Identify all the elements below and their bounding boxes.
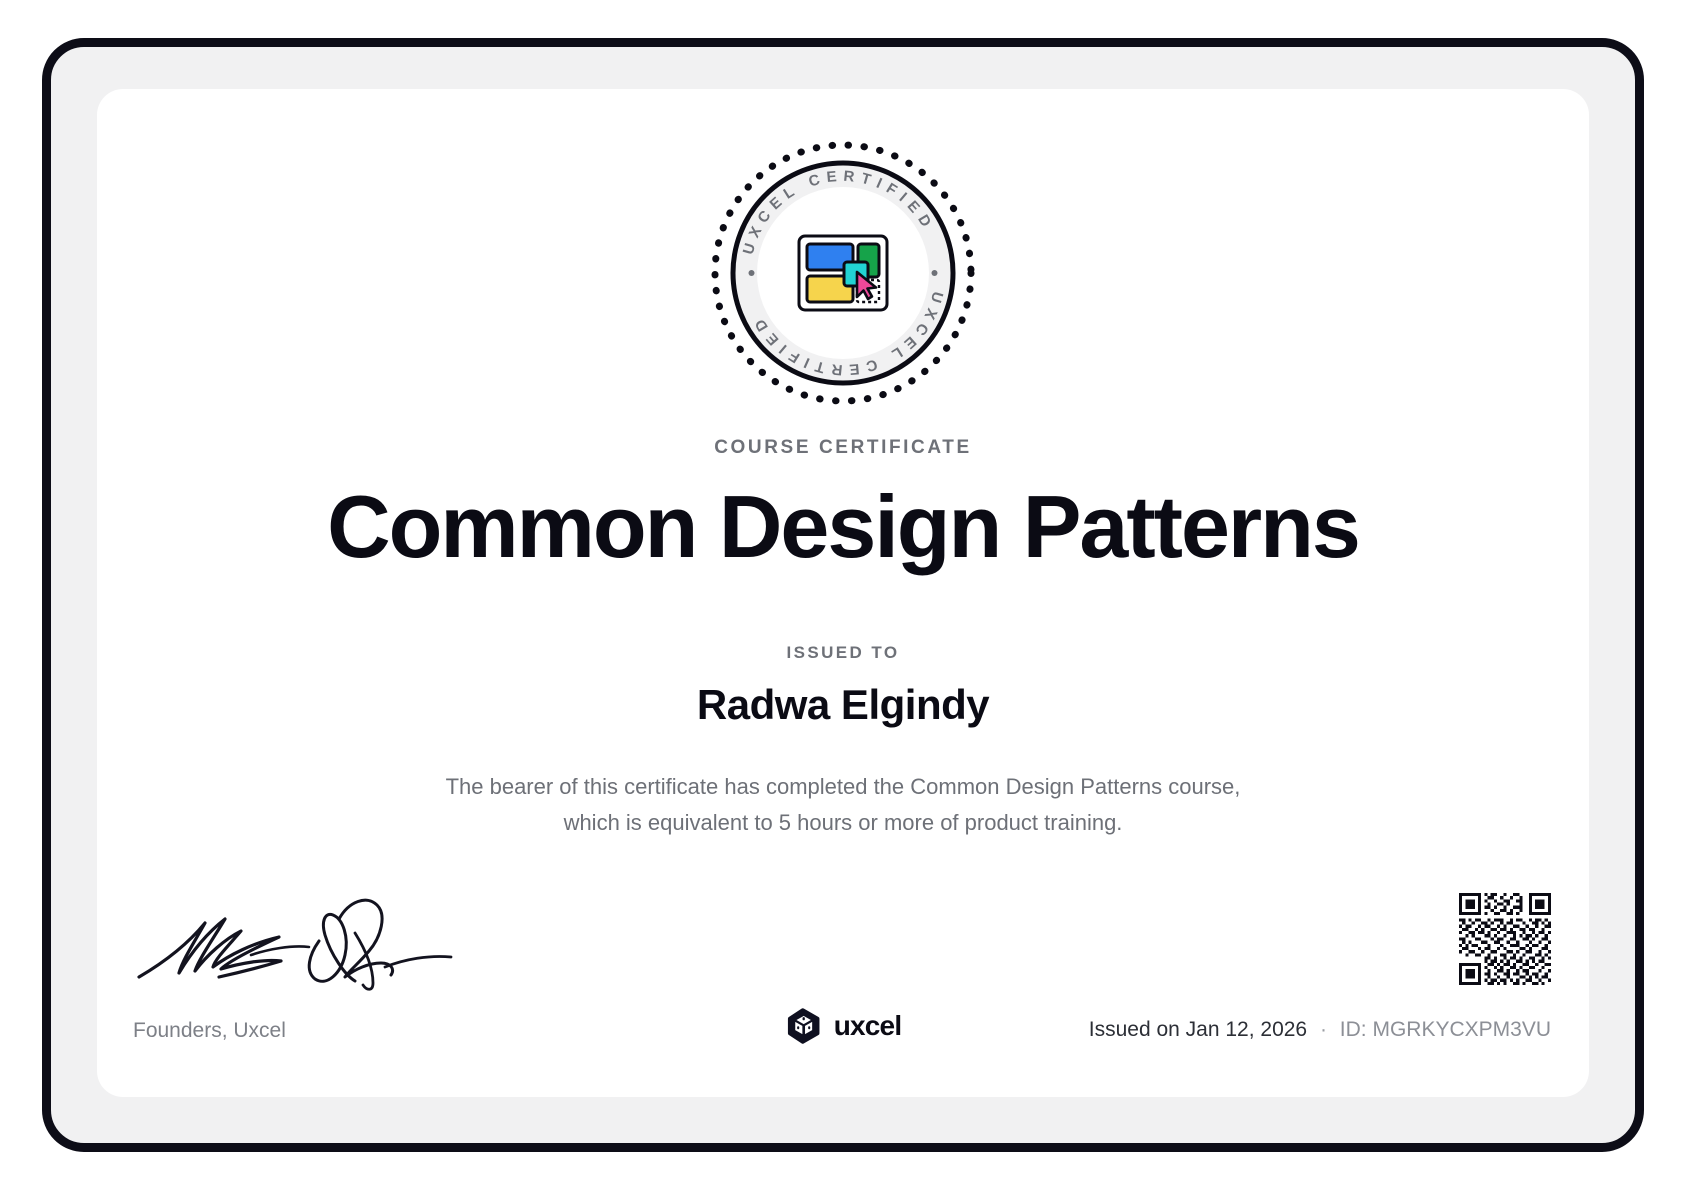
meta-separator: · <box>1313 1018 1334 1041</box>
verification-qr-code[interactable] <box>1459 893 1551 985</box>
signature-caption: Founders, Uxcel <box>133 1019 286 1043</box>
certificate-title: Common Design Patterns <box>97 479 1589 574</box>
certificate-card: UXCEL CERTIFIED UXCEL CERTIFIED <box>97 89 1589 1097</box>
issued-on-date: Issued on Jan 12, 2026 <box>1089 1018 1307 1041</box>
uxcel-brand-lockup: uxcel <box>785 1007 902 1045</box>
issued-to-label: ISSUED TO <box>97 643 1589 663</box>
uxcel-wordmark: uxcel <box>834 1010 902 1042</box>
uxcel-cube-logo <box>785 1007 823 1045</box>
uxcel-certified-seal: UXCEL CERTIFIED UXCEL CERTIFIED <box>707 137 979 409</box>
founder-signatures <box>133 893 463 993</box>
layout-patterns-icon <box>799 236 887 310</box>
recipient-name: Radwa Elgindy <box>97 681 1589 729</box>
certificate-outer-frame: UXCEL CERTIFIED UXCEL CERTIFIED <box>42 38 1644 1152</box>
issue-metadata: Issued on Jan 12, 2026 · ID: MGRKYCXPM3V… <box>1089 1018 1551 1042</box>
certificate-page: UXCEL CERTIFIED UXCEL CERTIFIED <box>0 0 1684 1190</box>
certificate-id: ID: MGRKYCXPM3VU <box>1340 1018 1551 1041</box>
certificate-eyebrow: COURSE CERTIFICATE <box>97 437 1589 459</box>
certificate-description: The bearer of this certificate has compl… <box>433 769 1253 840</box>
certificate-seal-container: UXCEL CERTIFIED UXCEL CERTIFIED <box>97 137 1589 409</box>
